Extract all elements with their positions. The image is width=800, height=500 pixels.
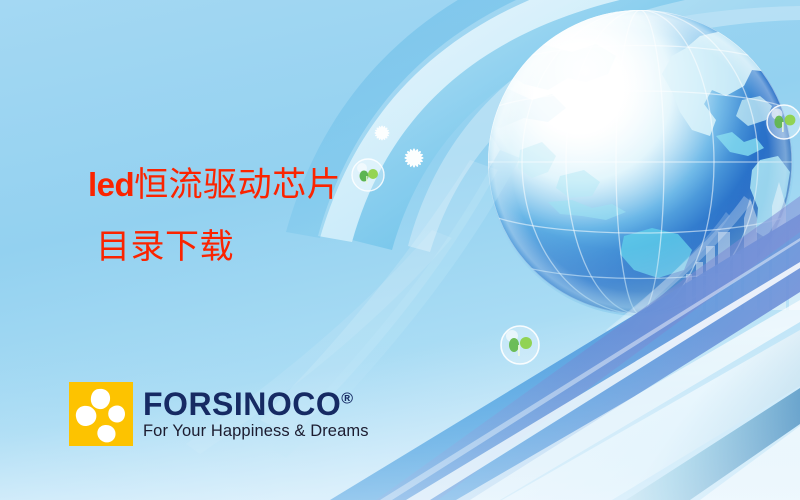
bubble-2 (501, 326, 539, 364)
logo-wordmark: FORSINOCO® (143, 388, 369, 420)
snowflake-icon-2 (404, 148, 423, 167)
forsinoco-logo: FORSINOCO® For Your Happiness & Dreams (69, 382, 369, 446)
logo-text-block: FORSINOCO® For Your Happiness & Dreams (143, 382, 369, 440)
banner-canvas: led恒流驱动芯片 目录下载 FORSINOCO® For Your Happi… (0, 0, 800, 500)
logo-mark-tile (69, 382, 133, 446)
logo-tagline: For Your Happiness & Dreams (143, 422, 369, 440)
logo-wordmark-text: FORSINOCO (143, 386, 341, 422)
registered-trademark-icon: ® (341, 390, 353, 407)
bubble-3 (767, 105, 800, 139)
four-petal-pinwheel-icon (69, 382, 133, 446)
bubble-1 (352, 159, 384, 191)
